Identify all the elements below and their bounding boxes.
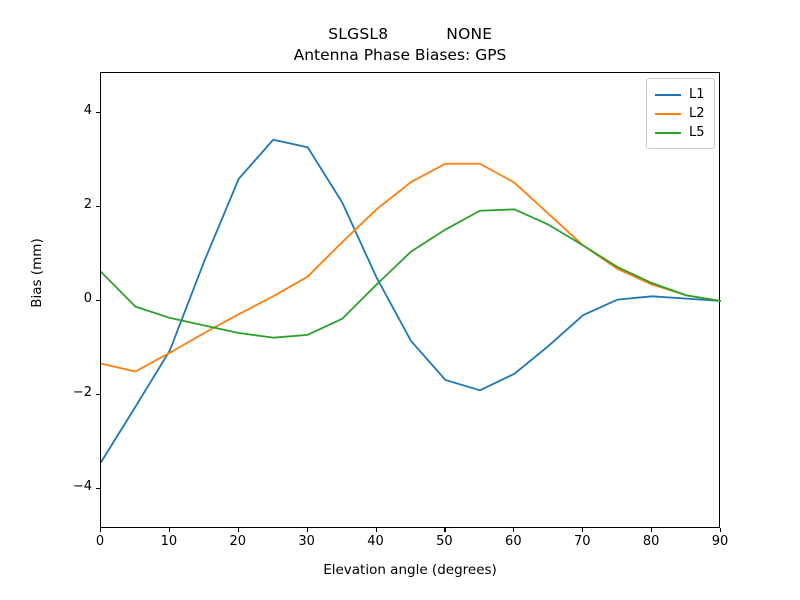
x-tick-label: 70 [552, 534, 612, 549]
chart-legend: L1L2L5 [646, 78, 715, 149]
x-tick-label: 40 [346, 534, 406, 549]
legend-label: L5 [689, 126, 705, 139]
radome-label: NONE [446, 25, 492, 43]
x-tick-mark [238, 528, 239, 532]
y-tick-label: −2 [48, 385, 92, 400]
legend-swatch-l1 [655, 94, 681, 96]
x-tick-label: 20 [208, 534, 268, 549]
x-tick-label: 30 [277, 534, 337, 549]
legend-entry-l5[interactable]: L5 [655, 123, 705, 142]
x-axis-label: Elevation angle (degrees) [100, 562, 720, 578]
x-tick-mark [100, 528, 101, 532]
x-tick-label: 80 [621, 534, 681, 549]
x-tick-mark [720, 528, 721, 532]
x-tick-mark [169, 528, 170, 532]
series-line-l1 [101, 140, 721, 463]
station-id-label: SLGSL8 [328, 25, 388, 43]
x-tick-label: 0 [70, 534, 130, 549]
legend-swatch-l2 [655, 113, 681, 115]
y-tick-mark [96, 112, 100, 113]
y-tick-label: 0 [48, 291, 92, 306]
x-tick-label: 50 [414, 534, 474, 549]
legend-entry-l1[interactable]: L1 [655, 85, 705, 104]
plot-area [100, 72, 720, 528]
y-tick-mark [96, 206, 100, 207]
y-tick-mark [96, 488, 100, 489]
y-tick-label: 2 [48, 197, 92, 212]
x-tick-mark [376, 528, 377, 532]
x-tick-mark [307, 528, 308, 532]
x-tick-mark [513, 528, 514, 532]
x-tick-label: 10 [139, 534, 199, 549]
x-tick-mark [444, 528, 445, 532]
legend-swatch-l5 [655, 132, 681, 134]
chart-title: Antenna Phase Biases: GPS [0, 46, 800, 64]
y-tick-label: 4 [48, 103, 92, 118]
legend-label: L1 [689, 88, 705, 101]
x-tick-mark [651, 528, 652, 532]
legend-label: L2 [689, 107, 705, 120]
plot-lines [101, 73, 721, 529]
legend-entry-l2[interactable]: L2 [655, 104, 705, 123]
x-tick-mark [582, 528, 583, 532]
y-tick-mark [96, 394, 100, 395]
y-axis-label: Bias (mm) [29, 203, 45, 343]
x-tick-label: 90 [690, 534, 750, 549]
chart-figure: SLGSL8NONE Antenna Phase Biases: GPS Ele… [0, 0, 800, 600]
y-tick-label: −4 [48, 479, 92, 494]
x-tick-label: 60 [483, 534, 543, 549]
y-tick-mark [96, 300, 100, 301]
